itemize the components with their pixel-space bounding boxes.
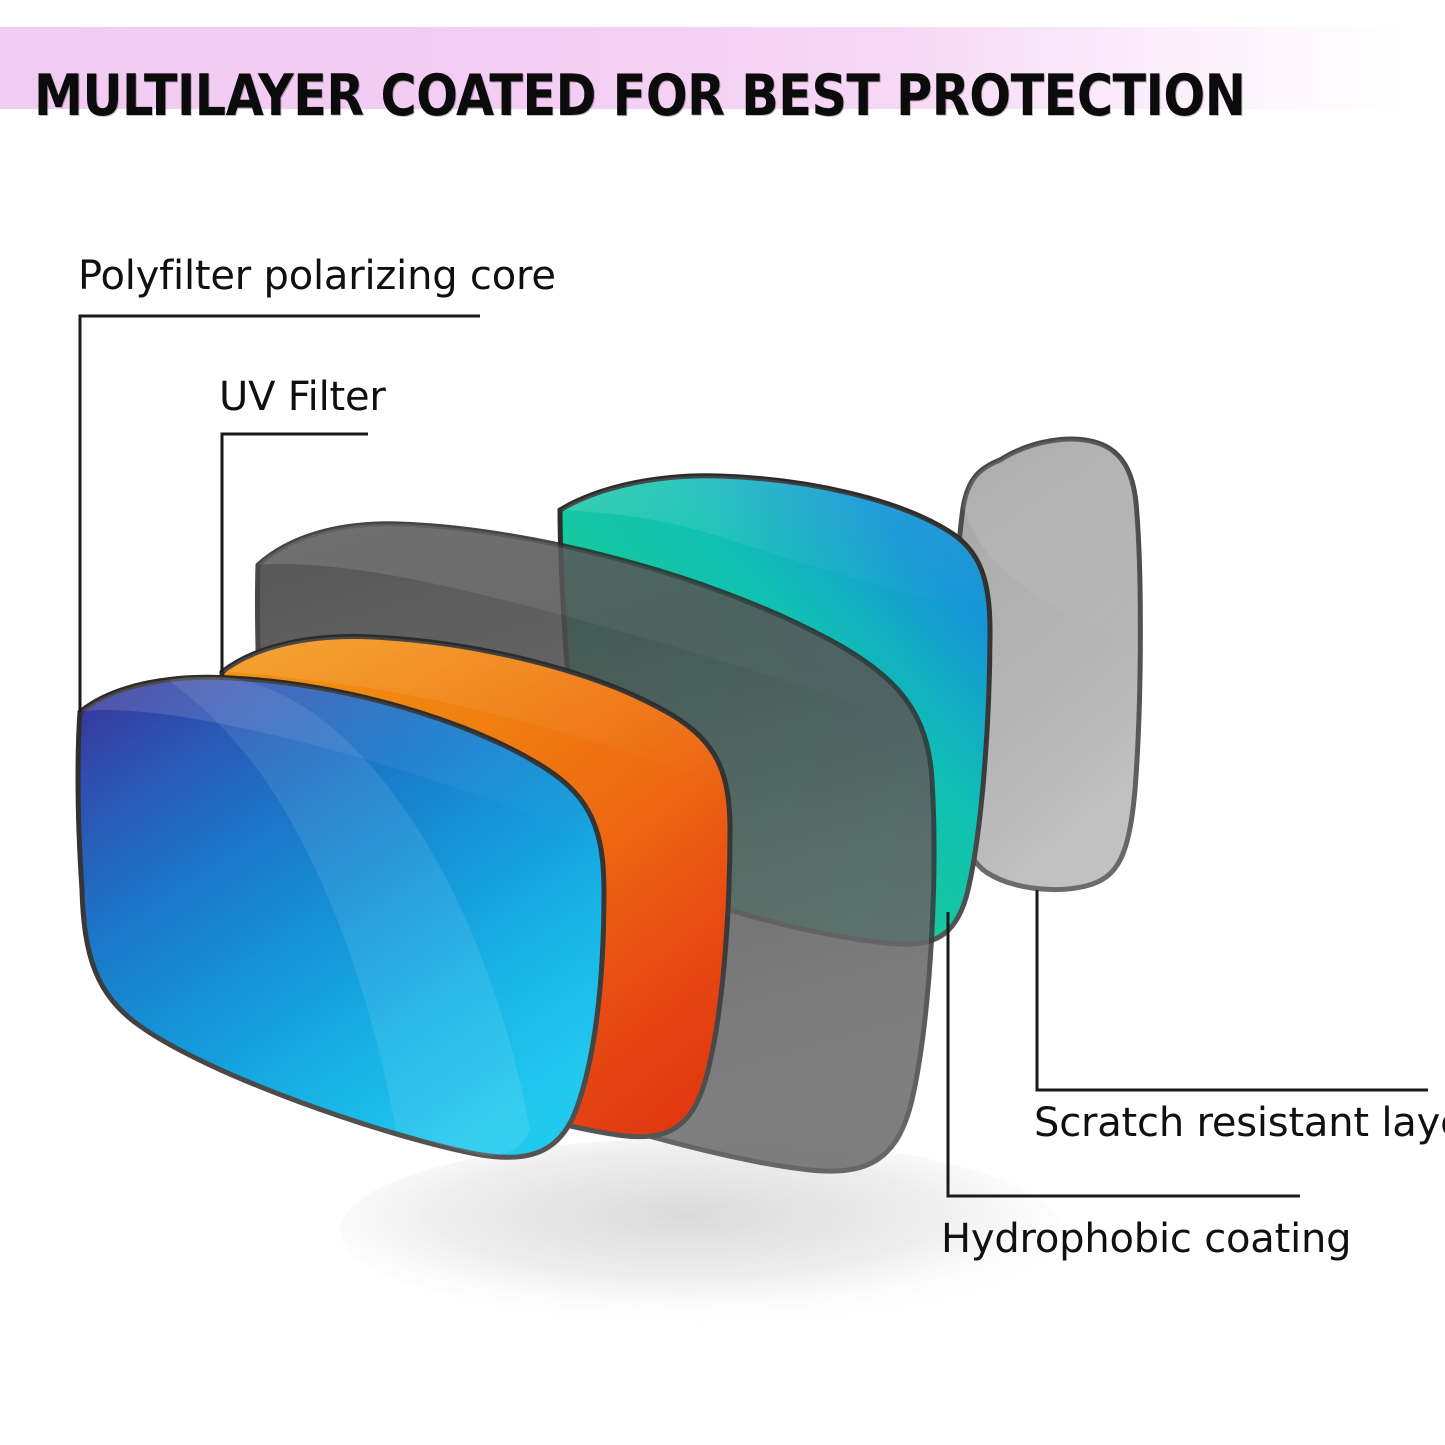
leader-line-scratch (1037, 890, 1428, 1090)
label-polyfilter-polarizing-core: Polyfilter polarizing core (78, 253, 556, 299)
label-scratch-resistant-layer: Scratch resistant layer (1034, 1100, 1445, 1146)
infographic-canvas: MULTILAYER COATED FOR BEST PROTECTION (0, 0, 1445, 1445)
label-hydrophobic-coating: Hydrophobic coating (941, 1216, 1351, 1262)
leader-line-uv-filter (222, 434, 368, 672)
leader-line-hydrophobic (948, 912, 1300, 1196)
label-uv-filter: UV Filter (219, 374, 386, 420)
